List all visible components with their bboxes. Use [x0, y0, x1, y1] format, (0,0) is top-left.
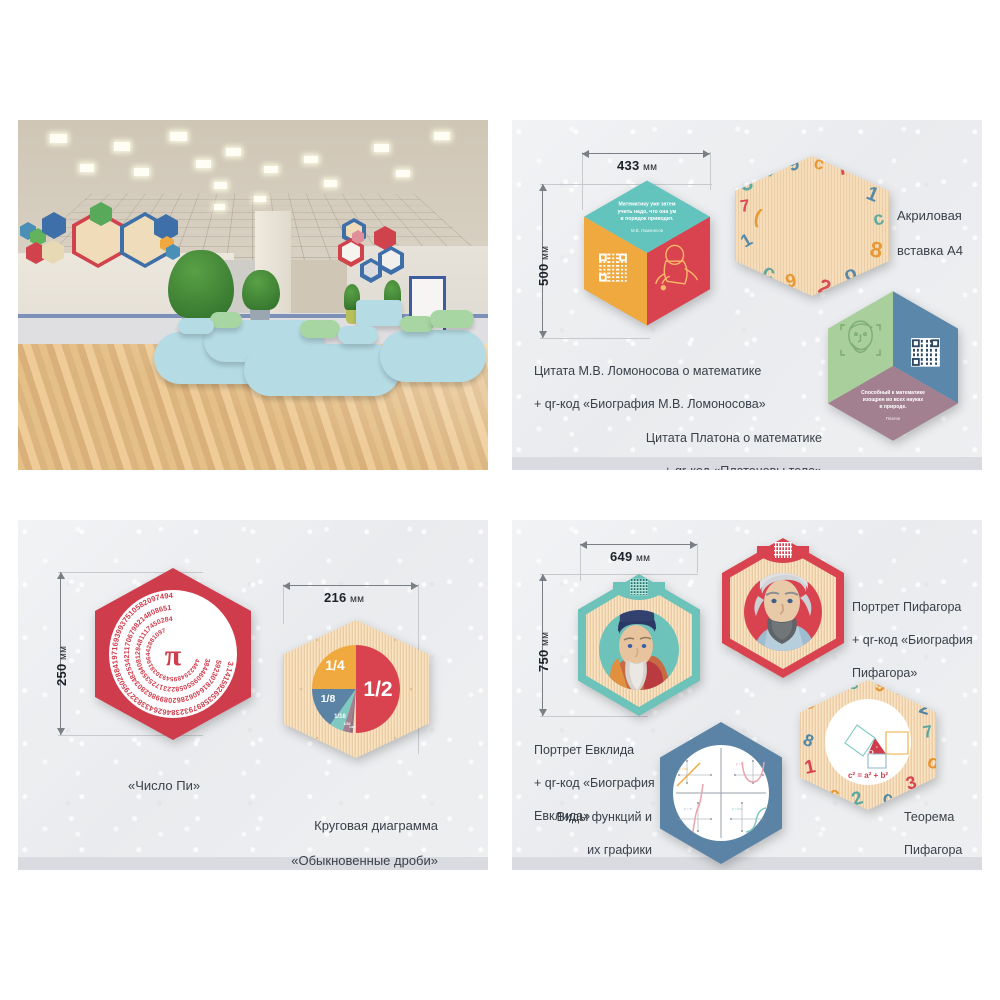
sofa-back-green-4	[430, 310, 474, 328]
theorem-formula: c² = a² + b²	[848, 771, 888, 780]
svg-text:b: b	[882, 745, 884, 749]
dimension-line-649	[580, 544, 697, 545]
functions-caption: Виды функций и их графики	[540, 792, 652, 870]
qr-code-lomonosov	[599, 254, 627, 282]
plato-caption-line2: + qr-код «Платоновы тела»	[632, 463, 822, 470]
theorem-caption-line2: Пифагора	[904, 842, 962, 859]
sofa-back-green-2	[300, 320, 340, 338]
pi-caption: «Число Пи»	[128, 760, 200, 812]
hex-wall-composition-right	[336, 218, 410, 282]
lomonosov-caption-line1: Цитата М.В. Ломоносова о математике	[534, 363, 766, 380]
pie-label-1-2: 1/2	[363, 678, 392, 701]
sofa-back-blue-1	[178, 318, 214, 334]
pie-chart-caption: Круговая диаграмма «Обыкновенные дроби»	[238, 800, 438, 870]
euclid-hexagon-svg	[578, 574, 700, 716]
pie-label-1-8: 1/8	[321, 693, 336, 705]
pie-caption-line2: «Обыкновенные дроби»	[238, 852, 438, 869]
panel-quotes: 433 мм 500 мм Математику уже затем учить…	[512, 120, 982, 470]
dimension-line-433	[582, 153, 710, 154]
panel-interior-photo	[18, 120, 488, 470]
theorem-caption: Теорема Пифагора	[904, 792, 962, 870]
qr-code-euclid	[630, 578, 648, 596]
fractions-hexagon: 1/2 1/4 1/8 1/16 1/32 1/64	[283, 620, 429, 758]
pi-hexagon: 3.14159265358979323846264338327950288419…	[95, 568, 251, 740]
pythagoras-caption-line3: Пифагора»	[852, 665, 973, 682]
lomonosov-cube-svg: Математику уже затем учить надо, что она…	[584, 180, 710, 326]
qr-code-plato	[911, 338, 940, 367]
pie-label-1-16: 1/16	[334, 714, 346, 720]
lomonosov-cube-hexagon: Математику уже затем учить надо, что она…	[584, 180, 710, 326]
plato-cube-svg: Способный к математике изощрен во всех н…	[828, 291, 958, 441]
euclid-caption-line2: + qr-код «Биография	[534, 775, 655, 792]
pi-caption-line1: «Число Пи»	[128, 777, 200, 794]
sofa-back-green-3	[400, 316, 434, 332]
screenshot-root: 433 мм 500 мм Математику уже затем учить…	[0, 0, 1000, 1000]
panel-portraits: 649 мм 750 мм	[512, 520, 982, 870]
functions-hexagon: y = kx y = x² y = x³ y = k/x	[660, 722, 782, 864]
graph-label-hyperbola: y = k/x	[732, 807, 742, 811]
fractions-pie-svg: 1/2 1/4 1/8 1/16 1/32 1/64	[283, 620, 429, 758]
svg-text:3: 3	[876, 261, 888, 281]
dimension-label-750: 750 мм	[536, 632, 551, 672]
pythagoras-caption: Портрет Пифагора + qr-код «Биография Пиф…	[852, 582, 973, 698]
sofa-back-blue-2	[338, 326, 378, 344]
acrylic-hexagon-svg: 3 ( 1 c 9 2 o 8 c 1 7 c 9 ) 7	[735, 156, 889, 296]
pi-hexagon-svg: 3.14159265358979323846264338327950288419…	[95, 568, 251, 740]
sofa-cluster-d	[380, 330, 486, 382]
lobby-render-image	[18, 120, 488, 470]
svg-text:в природе.: в природе.	[879, 404, 907, 410]
panel-pi-fractions: 250 мм 216 мм 3.141592653589793238	[18, 520, 488, 870]
plant-large	[168, 250, 234, 318]
svg-text:Платон: Платон	[886, 416, 901, 421]
dimension-line-216	[283, 585, 418, 586]
graph-label-cubic: y = x³	[684, 807, 693, 811]
functions-caption-line1: Виды функций и	[540, 809, 652, 826]
acrylic-caption: Акриловая вставка А4	[897, 190, 963, 276]
dimension-label-250: 250 мм	[54, 646, 69, 686]
theorem-caption-line1: Теорема	[904, 809, 962, 826]
plato-cube-hexagon: Способный к математике изощрен во всех н…	[828, 291, 958, 441]
hex-wall-composition-left	[20, 208, 180, 266]
lomonosov-caption-line2: + qr-код «Биография М.В. Ломоносова»	[534, 396, 766, 413]
sofa-cluster-c	[244, 344, 400, 396]
theorem-hexagon-svg: 3 7 c 9 c 2 7 o 3 c 2 c 1 8	[800, 680, 936, 810]
pie-caption-line1: Круговая диаграмма	[238, 817, 438, 834]
svg-text:Способный к математике: Способный к математике	[861, 389, 925, 396]
pie-label-1-64: 1/64	[349, 725, 355, 729]
pythagoras-caption-line1: Портрет Пифагора	[852, 599, 973, 616]
euclid-caption-line1: Портрет Евклида	[534, 742, 655, 759]
graph-label-linear: y = kx	[679, 767, 688, 771]
pythagoras-caption-line2: + qr-код «Биография	[852, 632, 973, 649]
acrylic-caption-line1: Акриловая	[897, 207, 963, 224]
functions-caption-line2: их графики	[540, 842, 652, 859]
pythagoras-hexagon-svg	[722, 538, 844, 678]
svg-text:учить надо, что она ум: учить надо, что она ум	[618, 209, 677, 215]
acrylic-caption-line2: вставка А4	[897, 242, 963, 259]
dimension-label-216: 216 мм	[324, 590, 364, 605]
svg-text:М.В. Ломоносов: М.В. Ломоносов	[631, 228, 664, 233]
dimension-label-649: 649 мм	[610, 549, 650, 564]
functions-hexagon-svg: y = kx y = x² y = x³ y = k/x	[660, 722, 782, 864]
svg-text:изощрен во всех науках: изощрен во всех науках	[863, 397, 924, 403]
pie-label-1-4: 1/4	[325, 657, 345, 673]
dimension-label-433: 433 мм	[617, 158, 657, 173]
plant-medium	[242, 270, 280, 310]
sofa-back-green-1	[210, 312, 242, 328]
svg-text:Математику уже затем: Математику уже затем	[618, 202, 675, 208]
dimension-label-500: 500 мм	[536, 246, 551, 286]
svg-text:в порядок приводит.: в порядок приводит.	[621, 216, 675, 222]
acrylic-insert-hexagon: 3 ( 1 c 9 2 o 8 c 1 7 c 9 ) 7	[735, 156, 889, 296]
euclid-hexagon	[578, 574, 700, 716]
theorem-hexagon: 3 7 c 9 c 2 7 o 3 c 2 c 1 8	[800, 680, 936, 810]
bench-far	[356, 300, 402, 326]
plato-caption-line1: Цитата Платона о математике	[632, 430, 822, 447]
pythagoras-hexagon	[722, 538, 844, 678]
graph-label-parabola: y = x²	[736, 762, 745, 766]
plato-caption: Цитата Платона о математике + qr-код «Пл…	[632, 413, 822, 470]
pi-symbol: π	[165, 639, 182, 672]
